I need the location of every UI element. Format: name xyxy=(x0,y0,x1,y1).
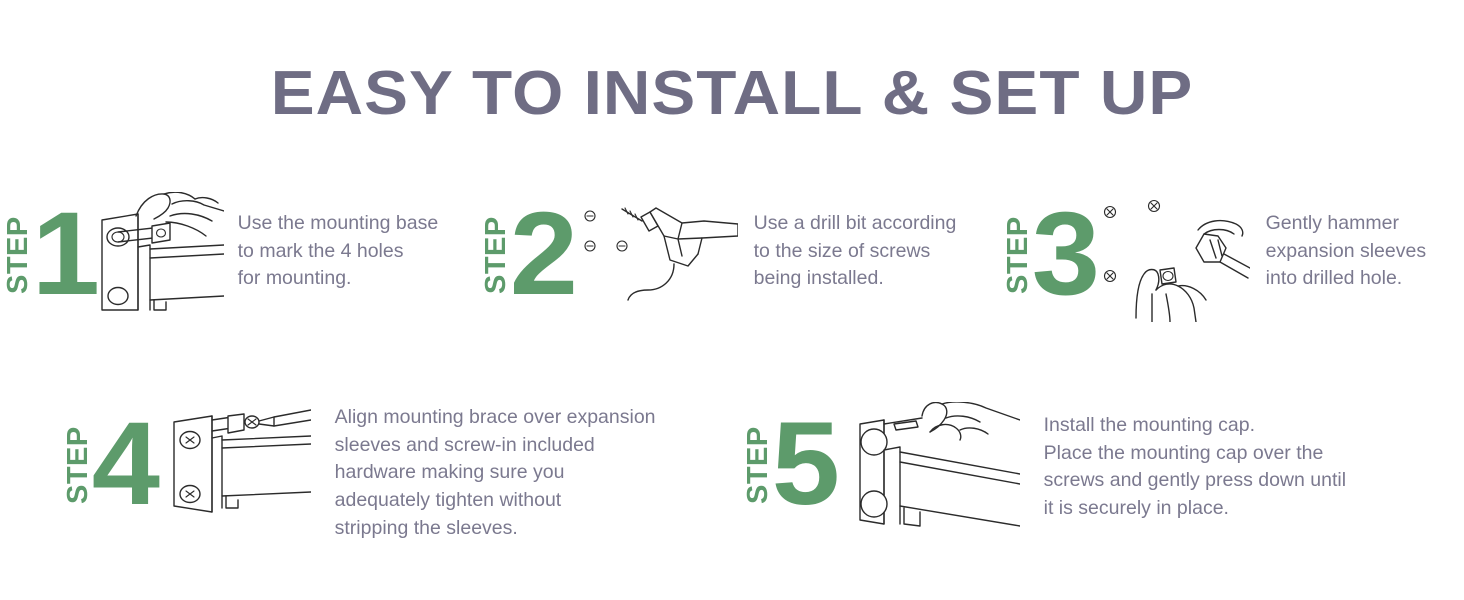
step-text-1: Use the mounting base to mark the 4 hole… xyxy=(238,210,478,293)
step-badge-4: STEP 4 xyxy=(64,398,156,518)
step-badge-2: STEP 2 xyxy=(482,188,574,308)
step-badge-1: STEP 1 xyxy=(4,188,96,308)
infographic-page: EASY TO INSTALL & SET UP STEP 1 xyxy=(0,0,1464,600)
step-number-1: 1 xyxy=(32,204,97,304)
step-block-3: STEP 3 xyxy=(1004,188,1456,322)
step-number-3: 3 xyxy=(1032,204,1097,304)
step-illustration-2 xyxy=(578,194,738,314)
step-illustration-3 xyxy=(1100,190,1250,322)
step-block-5: STEP 5 xyxy=(744,398,1404,534)
step-number-5: 5 xyxy=(772,414,837,514)
step-word-label-3: STEP xyxy=(1004,202,1033,308)
step-text-5: Install the mounting cap. Place the moun… xyxy=(1044,412,1404,523)
step-number-4: 4 xyxy=(92,414,157,514)
step-block-4: STEP 4 xyxy=(64,398,725,542)
step-word-label-5: STEP xyxy=(744,412,773,518)
step-word-label-1: STEP xyxy=(4,202,33,308)
step-badge-3: STEP 3 xyxy=(1004,188,1096,308)
step-text-4: Align mounting brace over expansion slee… xyxy=(335,404,725,542)
page-title: EASY TO INSTALL & SET UP xyxy=(0,58,1464,129)
step-badge-5: STEP 5 xyxy=(744,398,836,518)
step-number-2: 2 xyxy=(510,204,575,304)
step-word-label-2: STEP xyxy=(482,202,511,308)
step-text-3: Gently hammer expansion sleeves into dri… xyxy=(1266,210,1456,293)
step-block-2: STEP 2 xyxy=(482,188,999,314)
step-block-1: STEP 1 xyxy=(4,188,478,312)
step-illustration-4 xyxy=(166,408,311,518)
step-illustration-1 xyxy=(92,192,224,312)
step-text-2: Use a drill bit according to the size of… xyxy=(754,210,999,293)
step-illustration-5 xyxy=(850,402,1020,534)
step-word-label-4: STEP xyxy=(64,412,93,518)
